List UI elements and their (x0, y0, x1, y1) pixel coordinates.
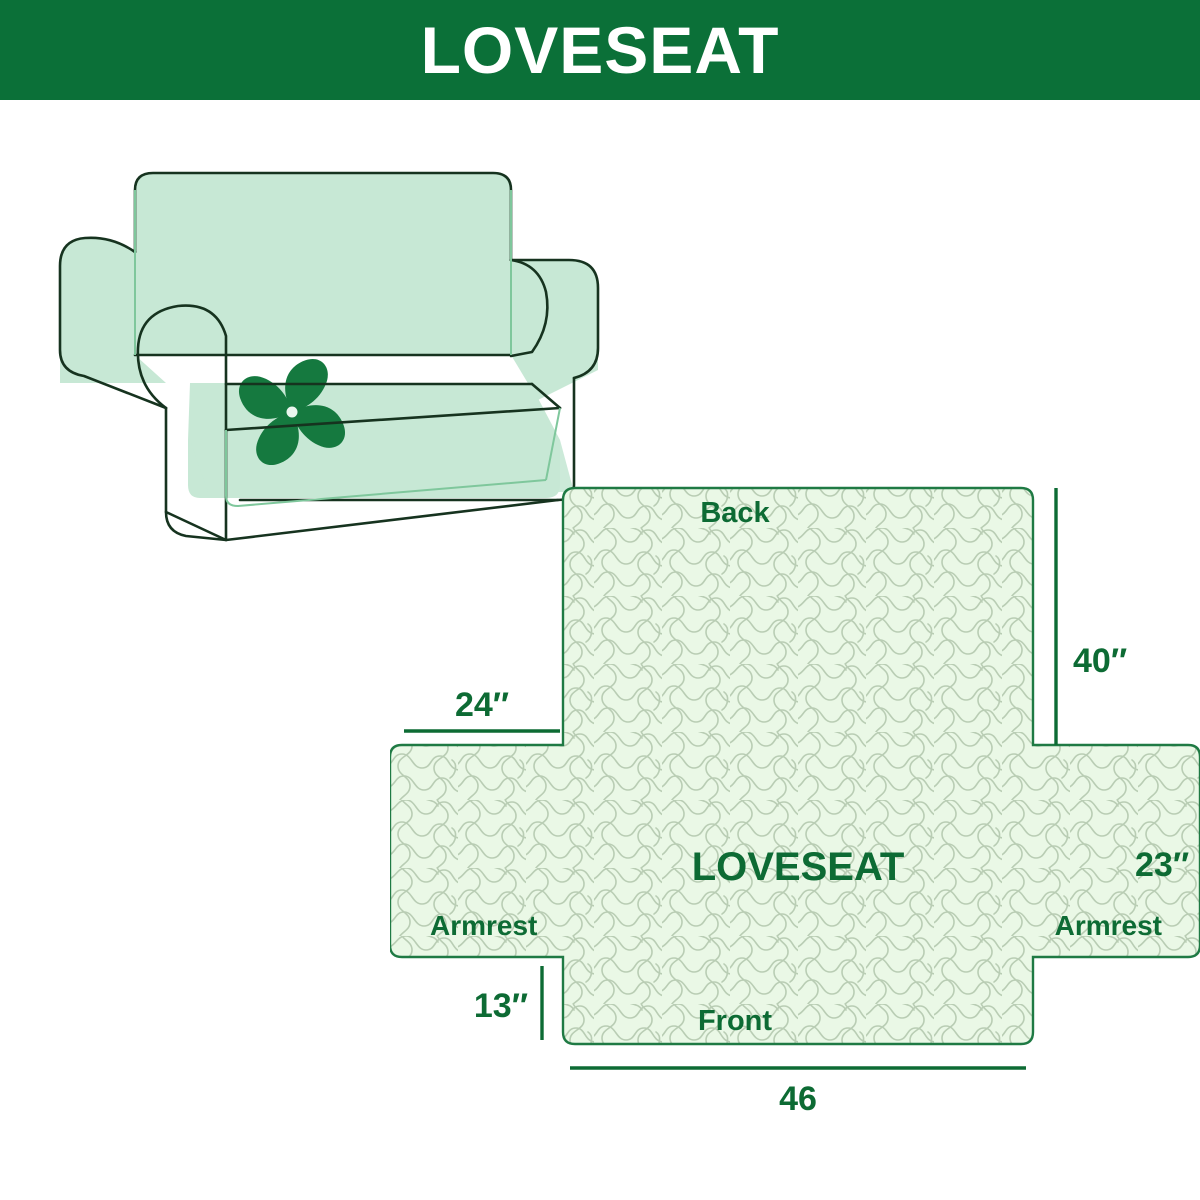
pattern-diagram-svg: Back LOVESEAT Armrest Armrest Front 40″ (390, 460, 1200, 1140)
dim-front-height: 13″ (474, 987, 528, 1025)
dim-seat-depth: 23″ (1135, 846, 1189, 884)
cross-outline (390, 488, 1200, 1044)
cross-shape (390, 488, 1200, 1044)
page-root: LOVESEAT (0, 0, 1200, 1200)
back-panel-fill (135, 173, 511, 355)
label-armrest-left: Armrest (430, 910, 537, 941)
right-arm-fill (511, 260, 598, 400)
cover-pattern-diagram: Back LOVESEAT Armrest Armrest Front 40″ (390, 460, 1200, 1140)
label-armrest-right: Armrest (1055, 910, 1162, 941)
label-center-loveseat: LOVESEAT (692, 845, 905, 889)
dim-back-height: 40″ (1073, 642, 1127, 680)
header-banner: LOVESEAT (0, 0, 1200, 100)
page-title: LOVESEAT (421, 17, 780, 83)
dim-overall-width: 46 (779, 1080, 817, 1118)
dim-back-width: 24″ (455, 686, 509, 724)
label-front: Front (698, 1005, 772, 1037)
label-back: Back (700, 497, 770, 529)
